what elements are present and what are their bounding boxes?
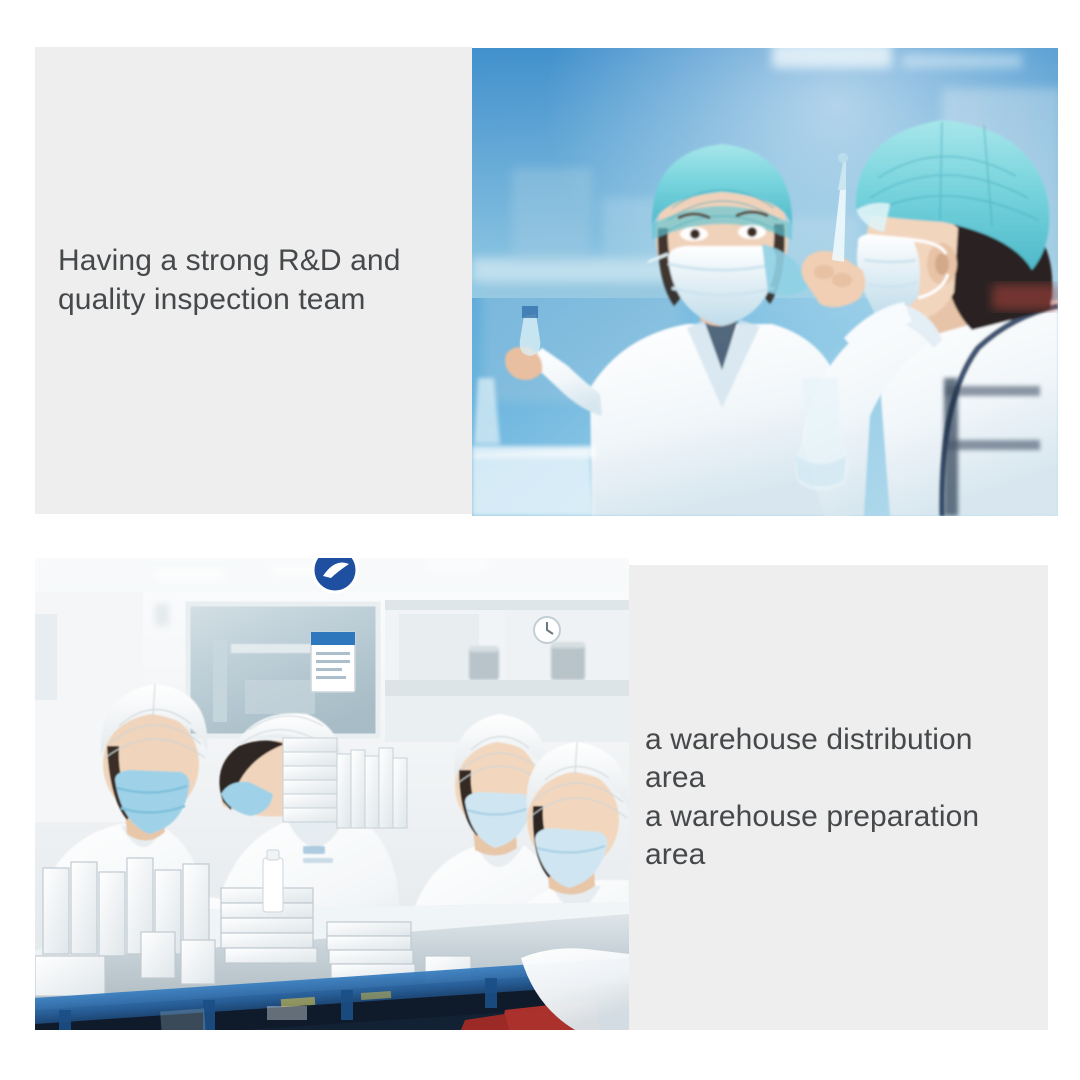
rd-quality-caption-panel: Having a strong R&D and quality inspecti… xyxy=(35,47,472,514)
warehouse-caption-text: a warehouse distribution area a warehous… xyxy=(645,721,1040,875)
warehouse-caption-panel: a warehouse distribution area a warehous… xyxy=(629,565,1048,1030)
warehouse-packing-photo xyxy=(35,558,629,1030)
lab-technicians-photo xyxy=(472,48,1058,516)
slide-canvas: Having a strong R&D and quality inspecti… xyxy=(0,0,1080,1080)
warehouse-section: a warehouse distribution area a warehous… xyxy=(35,558,1048,1030)
lab-technicians-photo-graphic xyxy=(472,48,1058,516)
rd-quality-caption-text: Having a strong R&D and quality inspecti… xyxy=(58,242,400,319)
warehouse-packing-photo-graphic xyxy=(35,558,629,1030)
rd-quality-section: Having a strong R&D and quality inspecti… xyxy=(35,47,1058,516)
